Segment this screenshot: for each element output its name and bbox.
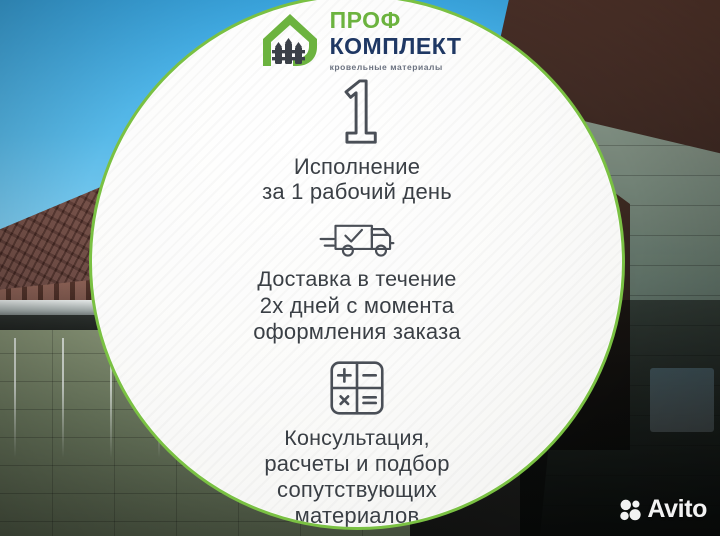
feature-block-consultation: Консультация, расчеты и подбор сопутству… — [92, 359, 622, 530]
avito-watermark: Avito — [619, 495, 707, 524]
feature-block-delivery: Доставка в течение 2х дней с момента офо… — [92, 219, 622, 344]
number-one-outline-icon — [325, 76, 389, 148]
delivery-line-1: Доставка в течение — [257, 267, 456, 292]
house-with-fence-icon — [259, 9, 321, 71]
listing-image: ПРОФ КОМПЛЕКТ кровельные материалы Испол… — [0, 0, 720, 536]
avito-dots-icon — [619, 499, 641, 521]
consultation-line-2: расчеты и подбор — [264, 451, 449, 477]
info-circle-panel: ПРОФ КОМПЛЕКТ кровельные материалы Испол… — [89, 0, 625, 530]
logo-line-1: ПРОФ — [330, 9, 462, 32]
avito-label: Avito — [647, 495, 707, 524]
logo-line-2: КОМПЛЕКТ — [330, 35, 462, 58]
calculator-icon — [328, 359, 386, 417]
feature-block-fulfillment: Исполнение за 1 рабочий день — [92, 72, 622, 206]
delivery-line-2: 2х дней с момента — [260, 293, 454, 319]
consultation-line-1: Консультация, — [284, 426, 430, 451]
logo-tagline: кровельные материалы — [330, 63, 462, 72]
consultation-line-3: сопутствующих — [277, 477, 437, 503]
delivery-truck-check-icon — [314, 219, 400, 259]
fulfillment-line-2: за 1 рабочий день — [262, 179, 452, 205]
consultation-line-4: материалов — [295, 503, 420, 529]
fulfillment-line-1: Исполнение — [294, 154, 420, 180]
brand-logo: ПРОФ КОМПЛЕКТ кровельные материалы — [259, 9, 462, 72]
delivery-line-3: оформления заказа — [253, 319, 461, 345]
